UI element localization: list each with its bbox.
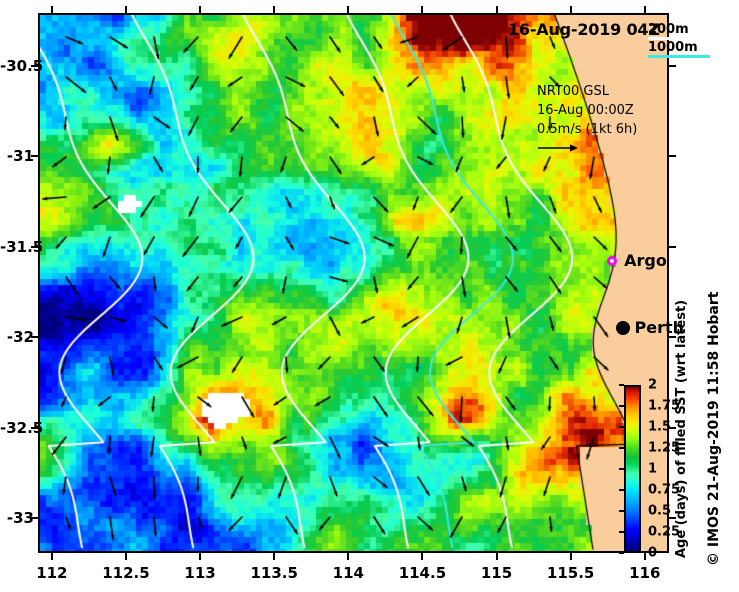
x-axis-tick-label: 113: [170, 564, 230, 582]
colorbar-group[interactable]: 00.250.50.7511.251.51.752: [624, 385, 641, 553]
colorbar-tick: [619, 468, 624, 470]
colorbar-tick-label: 1.5: [648, 420, 671, 435]
colorbar-tick-label: 0: [648, 546, 657, 561]
x-axis-tick-label: 115.5: [541, 564, 601, 582]
colorbar-tick: [619, 447, 624, 449]
x-axis-tick-top: [51, 6, 53, 13]
x-axis-tick-top: [496, 6, 498, 13]
colorbar-tick: [619, 552, 624, 554]
bathymetry-legend-label-200m: 200m: [648, 22, 714, 37]
colorbar-gradient[interactable]: [624, 385, 641, 553]
x-axis-tick-label: 113.5: [244, 564, 304, 582]
y-axis-tick-label: -32.5: [0, 419, 34, 437]
x-axis-tick: [199, 553, 201, 560]
x-axis-tick: [421, 553, 423, 560]
x-axis-tick: [51, 553, 53, 560]
bathymetry-legend: 200m 1000m: [648, 22, 714, 58]
copyright-credit: © IMOS 21-Aug-2019 11:58 Hobart: [706, 326, 722, 566]
x-axis-tick-label: 112.5: [96, 564, 156, 582]
y-axis-tick-label: -30.5: [0, 57, 34, 75]
x-axis-tick-label: 114: [318, 564, 378, 582]
x-axis-tick: [273, 553, 275, 560]
x-axis-tick-top: [125, 6, 127, 13]
x-axis-tick: [644, 553, 646, 560]
y-axis-tick-right: [669, 65, 676, 67]
x-axis-tick-top: [199, 6, 201, 13]
x-axis-tick: [570, 553, 572, 560]
current-vector-legend: NRT00 GSL 16-Aug 00:00Z 0.5m/s (1kt 6h): [537, 82, 637, 160]
colorbar-tick: [619, 510, 624, 512]
current-legend-time: 16-Aug 00:00Z: [537, 101, 637, 120]
site-marker-perth[interactable]: [616, 321, 630, 335]
x-axis-tick-top: [273, 6, 275, 13]
colorbar-tick: [619, 426, 624, 428]
y-axis-tick-label: -31: [0, 147, 34, 165]
y-axis-tick-right: [669, 246, 676, 248]
figure-root: 112112.5113113.5114114.5115115.5116-30.5…: [0, 0, 739, 592]
y-axis-tick-label: -33: [0, 509, 34, 527]
colorbar-tick: [619, 531, 624, 533]
colorbar-tick: [619, 489, 624, 491]
site-label-argo: Argo: [624, 251, 667, 270]
y-axis-tick-right: [669, 155, 676, 157]
x-axis-tick: [125, 553, 127, 560]
x-axis-tick-top: [570, 6, 572, 13]
x-axis-tick: [347, 553, 349, 560]
x-axis-tick-label: 116: [615, 564, 675, 582]
bathymetry-legend-label-1000m: 1000m: [648, 40, 714, 55]
x-axis-tick-top: [644, 6, 646, 13]
colorbar-tick: [619, 384, 624, 386]
x-axis-tick: [496, 553, 498, 560]
current-legend-product: NRT00 GSL: [537, 82, 637, 101]
map-date-title: 16-Aug-2019 04Z: [508, 20, 660, 39]
current-legend-scale: 0.5m/s (1kt 6h): [537, 120, 637, 139]
x-axis-tick-top: [347, 6, 349, 13]
current-legend-arrow-icon: [537, 141, 637, 160]
colorbar-axis-label: Age (days) of filled SST (wrt latest): [674, 378, 689, 558]
colorbar-tick-label: 2: [648, 378, 657, 393]
colorbar-tick-label: 0.5: [648, 504, 671, 519]
bathymetry-legend-line-1000m: [648, 55, 710, 58]
x-axis-tick-label: 112: [22, 564, 82, 582]
x-axis-tick-top: [421, 6, 423, 13]
x-axis-tick-label: 115: [467, 564, 527, 582]
y-axis-tick-label: -31.5: [0, 238, 34, 256]
colorbar-tick-label: 1: [648, 462, 657, 477]
x-axis-tick-label: 114.5: [392, 564, 452, 582]
y-axis-tick-label: -32: [0, 328, 34, 346]
colorbar-tick: [619, 405, 624, 407]
